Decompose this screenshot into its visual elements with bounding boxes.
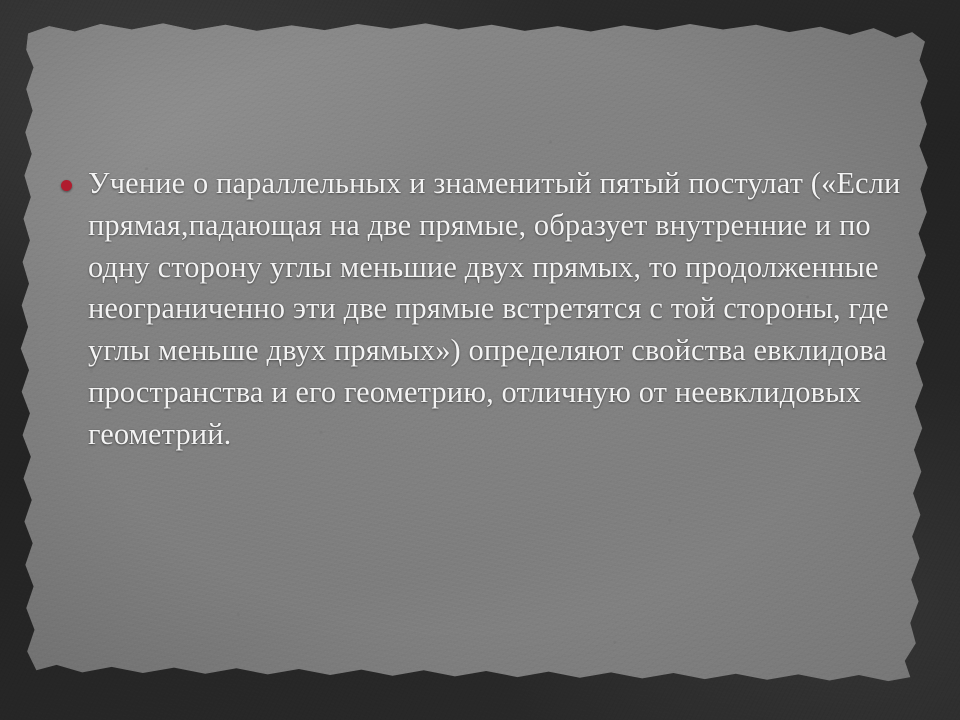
- bullet-paragraph-text: Учение о параллельных и знаменитый пятый…: [88, 163, 918, 456]
- round-bullet-icon: [61, 180, 72, 191]
- list-item: Учение о параллельных и знаменитый пятый…: [58, 163, 918, 456]
- slide-content: Учение о параллельных и знаменитый пятый…: [0, 0, 960, 720]
- slide: Учение о параллельных и знаменитый пятый…: [0, 0, 960, 720]
- bullet-list: Учение о параллельных и знаменитый пятый…: [58, 163, 918, 456]
